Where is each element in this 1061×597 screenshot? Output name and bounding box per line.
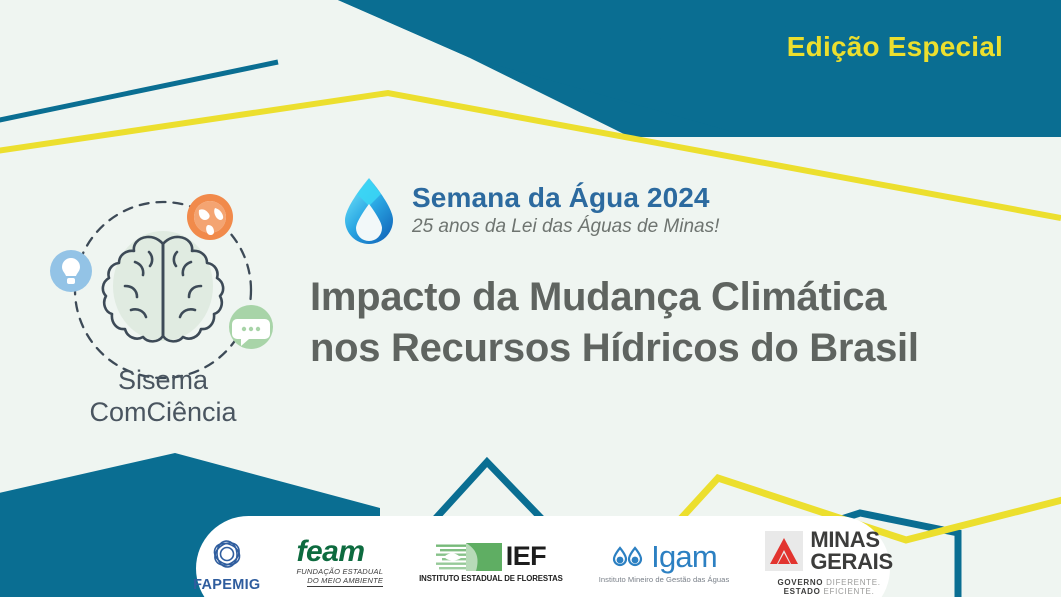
sisema-wordmark-line1: Sisema — [118, 365, 209, 395]
igam-subtitle: Instituto Mineiro de Gestão das Águas — [599, 575, 730, 584]
headline-line-2: nos Recursos Hídricos do Brasil — [310, 323, 1010, 374]
feam-subtitle-line1: FUNDAÇÃO ESTADUAL — [296, 567, 383, 576]
event-subtitle: 25 anos da Lei das Águas de Minas! — [412, 216, 719, 239]
sponsor-logo-bar: FAPEMIG feam FUNDAÇÃO ESTADUAL DO MEIO A… — [196, 516, 890, 597]
sisema-wordmark-line2: ComCiência — [89, 397, 237, 427]
lightbulb-icon — [50, 250, 92, 292]
igam-wordmark: Igam — [651, 541, 717, 572]
tagline-2-light: EFICIENTE. — [824, 587, 875, 596]
minas-gerais-triangle-icon — [765, 531, 803, 571]
chat-bubble-icon — [229, 305, 273, 349]
tagline-2-strong: ESTADO — [784, 587, 821, 596]
logo-igam: Igam Instituto Mineiro de Gestão das Águ… — [599, 541, 730, 584]
ief-wordmark: IEF — [506, 543, 546, 570]
tagline-1-light: DIFERENTE. — [826, 578, 881, 587]
event-header: Semana da Água 2024 25 anos da Lei das Á… — [340, 176, 719, 244]
slide-canvas: Edição Especial — [0, 0, 1061, 597]
logo-minas-gerais: MINAS GERAIS GOVERNO DIFERENTE. ESTADO E… — [765, 529, 893, 595]
edicao-especial-badge: Edição Especial — [787, 31, 1003, 63]
ief-forest-icon — [436, 543, 502, 571]
event-title: Semana da Água 2024 — [412, 182, 719, 214]
water-drop-icon — [340, 176, 398, 244]
feam-wordmark: feam — [296, 538, 364, 566]
fapemig-wordmark: FAPEMIG — [193, 577, 260, 593]
globe-icon — [187, 194, 233, 240]
sisema-comciencia-logo: Sisema ComCiência — [45, 182, 295, 427]
fapemig-knot-icon — [206, 533, 248, 575]
minas-gerais-wordmark-line2: GERAIS — [810, 551, 893, 572]
logo-feam: feam FUNDAÇÃO ESTADUAL DO MEIO AMBIENTE — [296, 538, 383, 587]
igam-droplets-icon — [611, 543, 645, 571]
minas-gerais-wordmark-line1: MINAS — [810, 529, 893, 550]
logo-ief: IEF INSTITUTO ESTADUAL DE FLORESTAS — [419, 543, 563, 583]
tagline-1-strong: GOVERNO — [777, 578, 823, 587]
page-title: Impacto da Mudança Climática nos Recurso… — [310, 272, 1010, 374]
headline-line-1: Impacto da Mudança Climática — [310, 272, 1010, 323]
minas-gerais-tagline: GOVERNO DIFERENTE. ESTADO EFICIENTE. — [777, 578, 880, 596]
feam-subtitle-line2: DO MEIO AMBIENTE — [307, 576, 383, 587]
logo-fapemig: FAPEMIG — [193, 533, 260, 593]
ief-subtitle: INSTITUTO ESTADUAL DE FLORESTAS — [419, 574, 563, 583]
